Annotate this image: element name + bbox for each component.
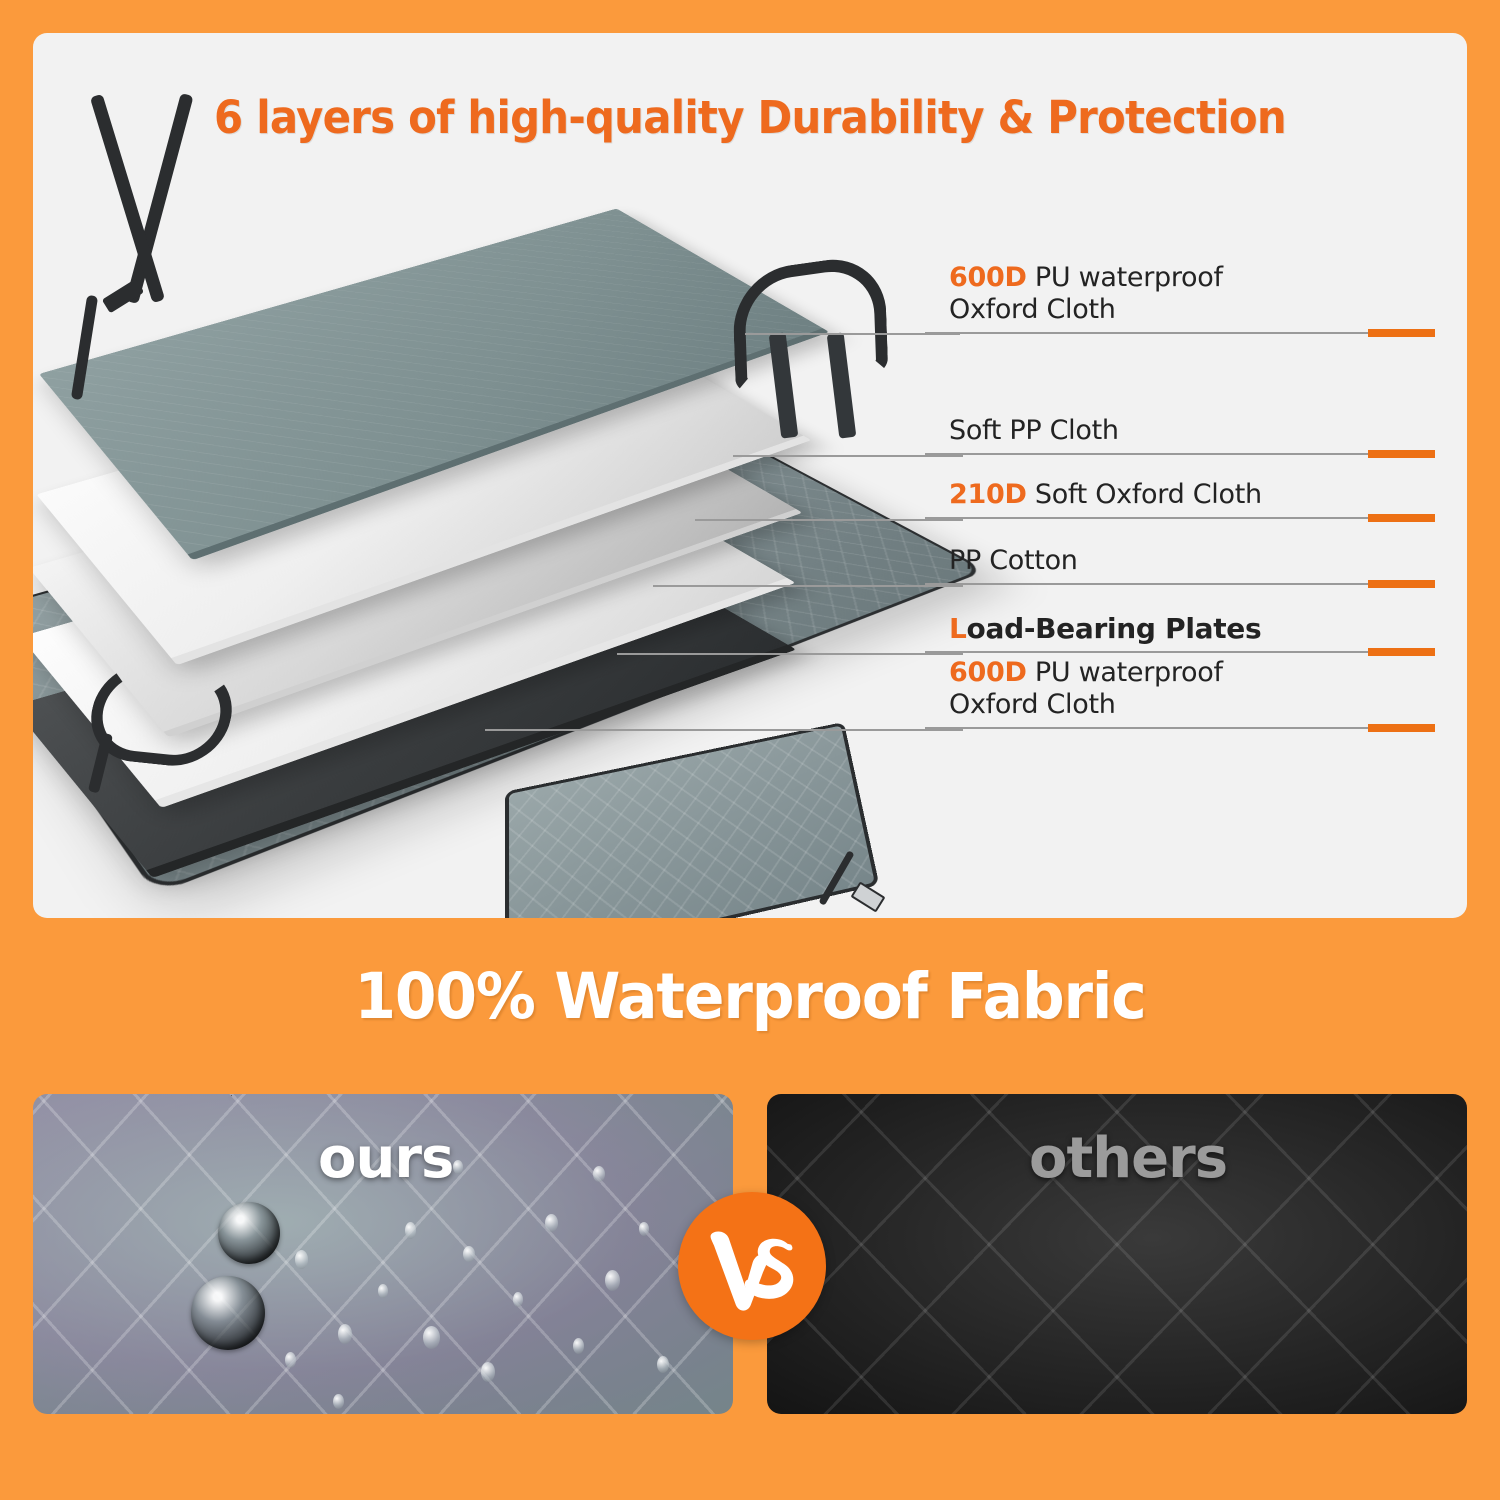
callout-label-5: Load-Bearing Plates xyxy=(949,612,1261,645)
carry-loop-right xyxy=(732,252,889,393)
callout-5-highlight: L xyxy=(949,612,967,645)
layers-hero-card: 6 layers of high-quality Durability & Pr… xyxy=(33,33,1467,918)
water-drop-16 xyxy=(453,1160,463,1174)
callout-tip-5 xyxy=(1368,648,1435,656)
waterproof-headline: 100% Waterproof Fabric xyxy=(38,960,1463,1033)
callout-2-rest: Soft PP Cloth xyxy=(949,415,1119,446)
callout-rule-1 xyxy=(925,332,1370,334)
strap-left-buckle xyxy=(102,279,144,314)
callout-label-2: Soft PP Cloth xyxy=(949,415,1119,447)
callout-layer-1: 600D PU waterproof Oxford Cloth xyxy=(925,266,1445,334)
water-bead-large-1 xyxy=(231,1095,232,1096)
callout-1-line2: Oxford Cloth xyxy=(949,294,1116,325)
callout-layer-4: PP Cotton xyxy=(925,519,1445,585)
cover-front-flap xyxy=(505,722,880,918)
callout-label-6: 600D PU waterproof Oxford Cloth xyxy=(949,657,1223,721)
water-drop-15 xyxy=(333,1394,344,1409)
comparison-panel-others: others xyxy=(767,1094,1467,1414)
water-drop-14 xyxy=(657,1356,669,1373)
callout-layer-6: 600D PU waterproof Oxford Cloth xyxy=(925,661,1445,729)
panel-label-others: others xyxy=(1029,1126,1227,1191)
panel-label-ours: ours xyxy=(318,1126,453,1191)
leader-line-4 xyxy=(653,585,963,587)
water-drop-2 xyxy=(285,1352,296,1368)
callout-tip-1 xyxy=(1368,329,1435,337)
water-drop-17 xyxy=(593,1166,605,1182)
callout-3-highlight: 210D xyxy=(949,479,1027,510)
water-drop-12 xyxy=(605,1270,620,1291)
water-drop-3 xyxy=(338,1324,352,1344)
water-drop-10 xyxy=(545,1214,558,1232)
comparison-panel-ours: ours xyxy=(33,1094,733,1414)
callout-label-1: 600D PU waterproof Oxford Cloth xyxy=(949,262,1223,326)
callout-layer-5: Load-Bearing Plates xyxy=(925,585,1445,653)
leader-line-5 xyxy=(617,653,963,655)
water-drop-4 xyxy=(378,1284,388,1298)
callout-layer-2: Soft PP Cloth xyxy=(925,389,1445,455)
callout-3-rest: Soft Oxford Cloth xyxy=(1027,479,1262,510)
layer-callout-list: 600D PU waterproof Oxford Cloth Soft PP … xyxy=(947,33,1467,918)
callout-tip-6 xyxy=(1368,724,1435,732)
callout-1-highlight: 600D xyxy=(949,262,1027,293)
water-drop-13 xyxy=(639,1222,649,1236)
callout-rule-5 xyxy=(925,651,1370,653)
bottom-clip xyxy=(851,881,886,912)
vs-icon xyxy=(700,1214,805,1319)
strap-left-front xyxy=(125,93,193,304)
callout-6-rest: PU waterproof xyxy=(1027,657,1223,688)
leader-line-3 xyxy=(695,519,963,521)
water-drop-8 xyxy=(481,1362,495,1382)
water-drop-1 xyxy=(295,1250,308,1269)
callout-label-4: PP Cotton xyxy=(949,545,1078,577)
vs-badge xyxy=(678,1192,826,1340)
water-drop-7 xyxy=(463,1246,475,1262)
callout-6-line2: Oxford Cloth xyxy=(949,689,1116,720)
callout-rule-6 xyxy=(925,727,1370,729)
callout-5-rest: oad-Bearing Plates xyxy=(967,612,1262,645)
water-drop-5 xyxy=(405,1222,416,1239)
water-drop-9 xyxy=(513,1292,523,1307)
product-exploded-illustration xyxy=(33,33,993,918)
callout-layer-3: 210D Soft Oxford Cloth xyxy=(925,453,1445,519)
callout-6-highlight: 600D xyxy=(949,657,1027,688)
water-drop-6 xyxy=(423,1326,440,1349)
leader-line-6 xyxy=(485,729,963,731)
callout-label-3: 210D Soft Oxford Cloth xyxy=(949,479,1262,511)
water-bead-large-a xyxy=(218,1202,280,1264)
callout-1-rest: PU waterproof xyxy=(1027,262,1223,293)
water-bead-large-b xyxy=(191,1276,265,1350)
water-drop-11 xyxy=(573,1338,584,1354)
callout-4-rest: PP Cotton xyxy=(949,545,1078,576)
